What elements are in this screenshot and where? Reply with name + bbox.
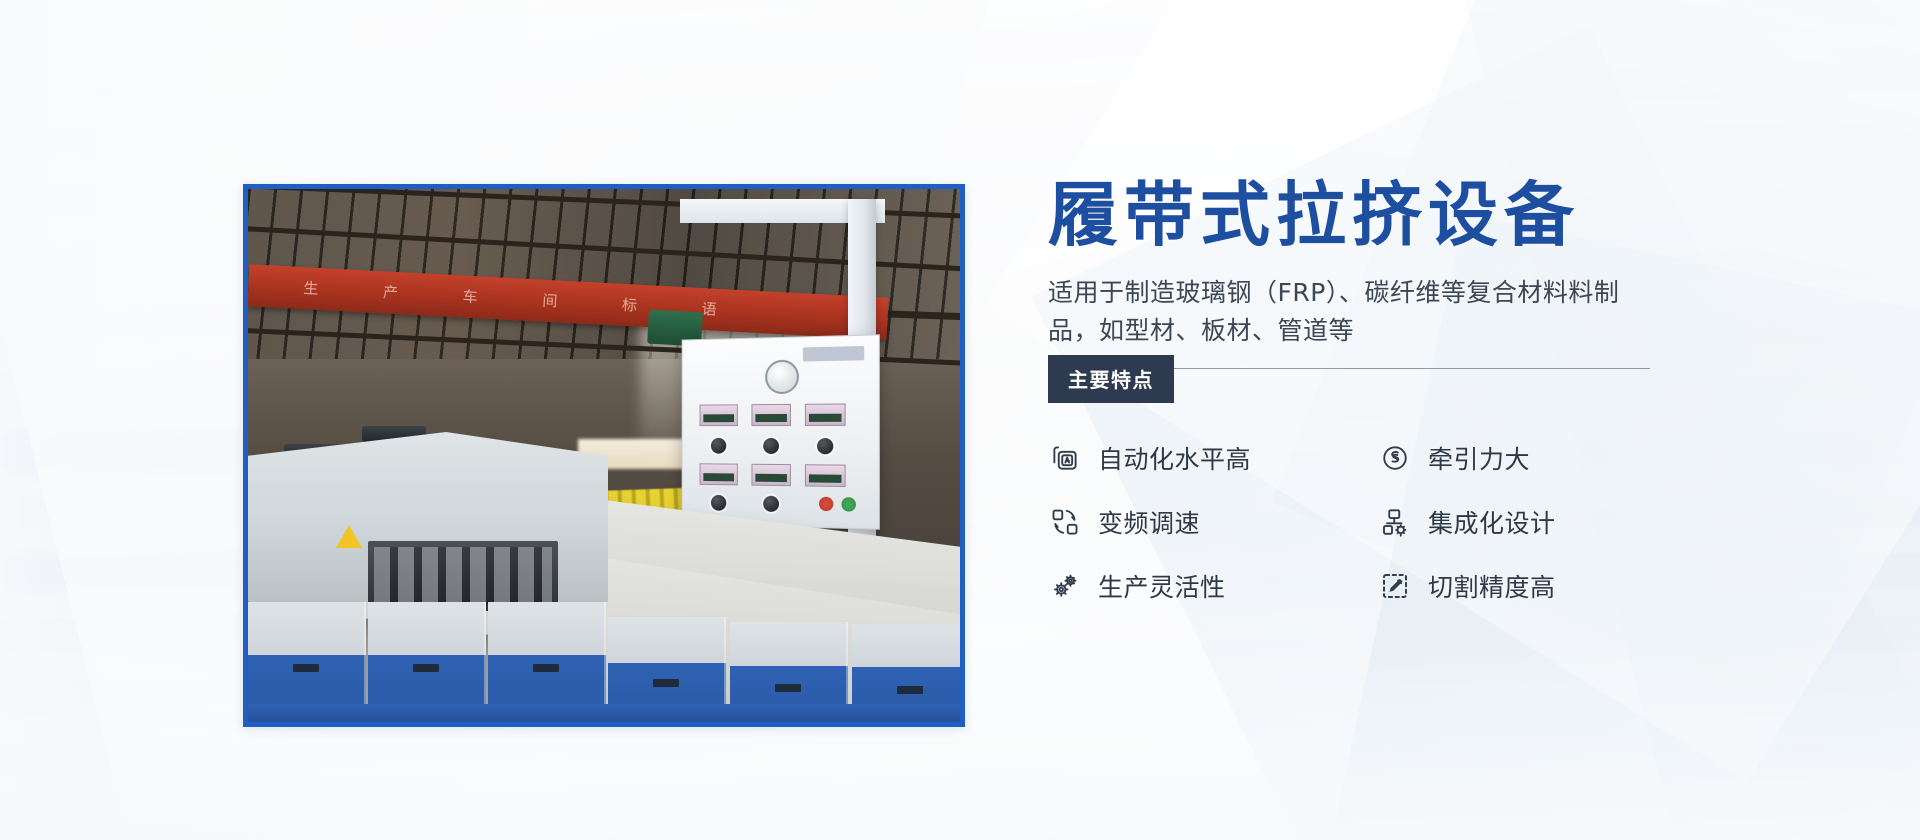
feature-item[interactable]: 变频调速 (1048, 501, 1378, 543)
product-photo: 生 产 车 间 标 语 (248, 189, 960, 722)
photo-panel-meter (751, 404, 790, 426)
photo-panel-meter (700, 404, 738, 426)
feature-item[interactable]: 生产灵活性 (1048, 565, 1378, 607)
photo-panel-knob (711, 438, 726, 454)
photo-base-rail (248, 704, 960, 722)
feature-item[interactable]: 自动化水平高 (1048, 437, 1378, 479)
feature-list: 自动化水平高 牵引力大 (1048, 437, 1748, 607)
product-hero-banner: 生 产 车 间 标 语 (0, 0, 1920, 840)
automation-panel-icon (1048, 441, 1082, 475)
gears-flexibility-icon (1048, 569, 1082, 603)
hero-content: 履带式拉挤设备 适用于制造玻璃钢（FRP）、碳纤维等复合材料料制品，如型材、板材… (1048, 178, 1748, 607)
photo-caterpillar-puller (368, 541, 558, 611)
page-title: 履带式拉挤设备 (1048, 178, 1748, 252)
photo-panel-meter (700, 463, 738, 485)
hero-subtitle: 适用于制造玻璃钢（FRP）、碳纤维等复合材料料制品，如型材、板材、管道等 (1048, 274, 1650, 350)
traction-waves-icon (1378, 441, 1412, 475)
photo-panel-meter (805, 464, 846, 487)
photo-control-panel (682, 334, 880, 529)
product-photo-frame[interactable]: 生 产 车 间 标 语 (243, 184, 965, 727)
feature-item[interactable]: 牵引力大 (1378, 437, 1708, 479)
feature-item[interactable]: 切割精度高 (1378, 565, 1708, 607)
frequency-speed-icon (1048, 505, 1082, 539)
feature-label: 自动化水平高 (1098, 440, 1251, 476)
photo-panel-knob (763, 438, 779, 454)
photo-panel-meter (805, 403, 846, 425)
feature-item[interactable]: 集成化设计 (1378, 501, 1708, 543)
features-badge: 主要特点 (1048, 355, 1174, 403)
feature-label: 牵引力大 (1428, 440, 1530, 476)
photo-panel-knob (817, 438, 833, 454)
feature-label: 切割精度高 (1428, 568, 1556, 604)
photo-panel-meter (751, 464, 790, 486)
integrated-design-icon (1378, 505, 1412, 539)
cut-precision-pen-icon (1378, 569, 1412, 603)
photo-warning-label (336, 525, 362, 548)
feature-label: 集成化设计 (1428, 504, 1556, 540)
photo-panel-logo (803, 346, 864, 362)
photo-panel-lamp-green (842, 497, 856, 512)
feature-label: 变频调速 (1098, 504, 1200, 540)
photo-panel-gauge (765, 360, 799, 395)
photo-panel-lamp-red (819, 497, 833, 511)
photo-panel-knob (763, 496, 779, 512)
photo-panel-knob (711, 495, 726, 511)
feature-label: 生产灵活性 (1098, 568, 1226, 604)
